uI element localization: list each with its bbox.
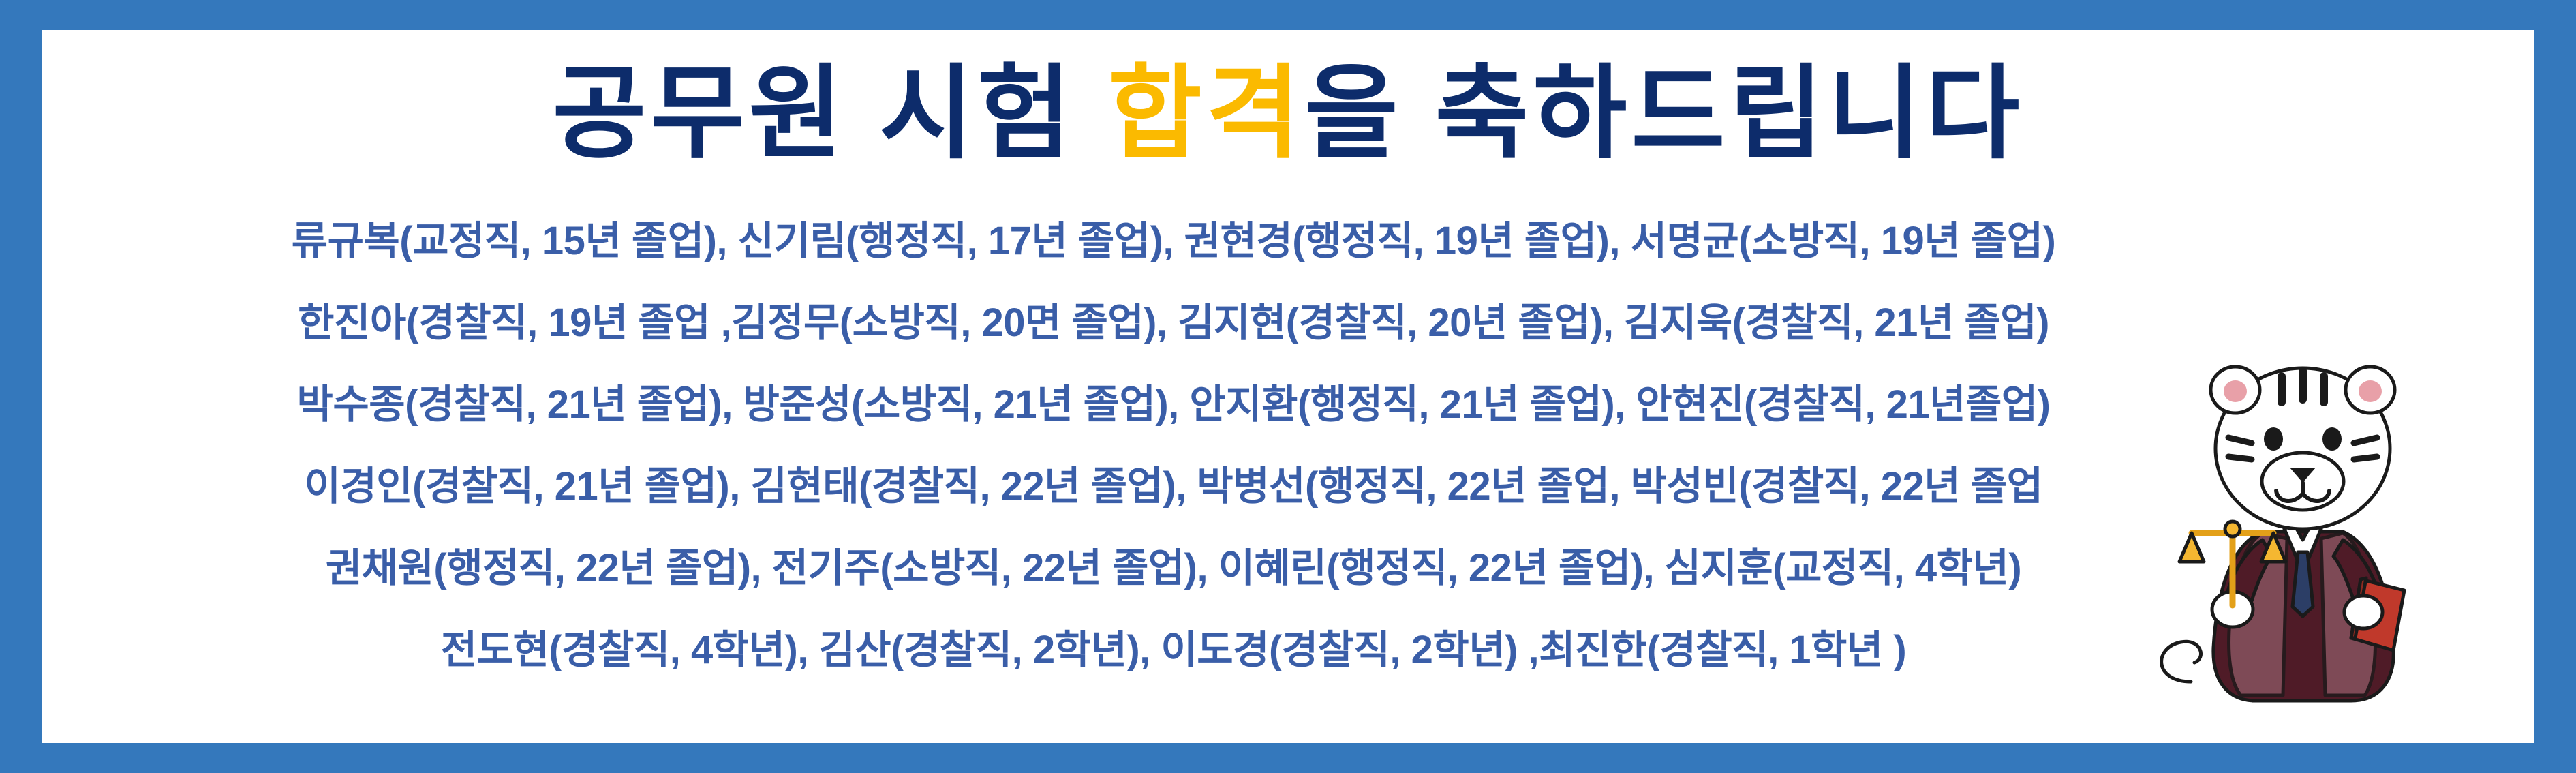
title-highlight-pass: 합격 xyxy=(1108,56,1304,170)
passer-name-list: 류규복(교정직, 15년 졸업), 신기림(행정직, 17년 졸업), 권현경(… xyxy=(42,200,2250,691)
name-line: 전도현(경찰직, 4학년), 김산(경찰직, 2학년), 이도경(경찰직, 2학… xyxy=(97,609,2250,691)
page-title: 공무원 시험 합격을 축하드립니다 xyxy=(42,56,2534,170)
name-line: 권채원(행정직, 22년 졸업), 전기주(소방직, 22년 졸업), 이혜린(… xyxy=(97,528,2250,609)
title-text-before: 공무원 시험 xyxy=(552,56,1107,170)
name-line: 한진아(경찰직, 19년 졸업 ,김정무(소방직, 20면 졸업), 김지현(경… xyxy=(97,282,2250,364)
congratulations-banner: 공무원 시험 합격을 축하드립니다 류규복(교정직, 15년 졸업), 신기림(… xyxy=(0,0,2576,773)
tiger-judge-mascot xyxy=(2126,327,2508,736)
banner-inner-panel: 공무원 시험 합격을 축하드립니다 류규복(교정직, 15년 졸업), 신기림(… xyxy=(42,30,2534,743)
name-line: 류규복(교정직, 15년 졸업), 신기림(행정직, 17년 졸업), 권현경(… xyxy=(97,200,2250,282)
name-line: 박수종(경찰직, 21년 졸업), 방준성(소방직, 21년 졸업), 안지환(… xyxy=(97,364,2250,446)
name-line: 이경인(경찰직, 21년 졸업), 김현태(경찰직, 22년 졸업), 박병선(… xyxy=(97,446,2250,528)
title-text-after: 을 축하드립니다 xyxy=(1304,56,2024,170)
